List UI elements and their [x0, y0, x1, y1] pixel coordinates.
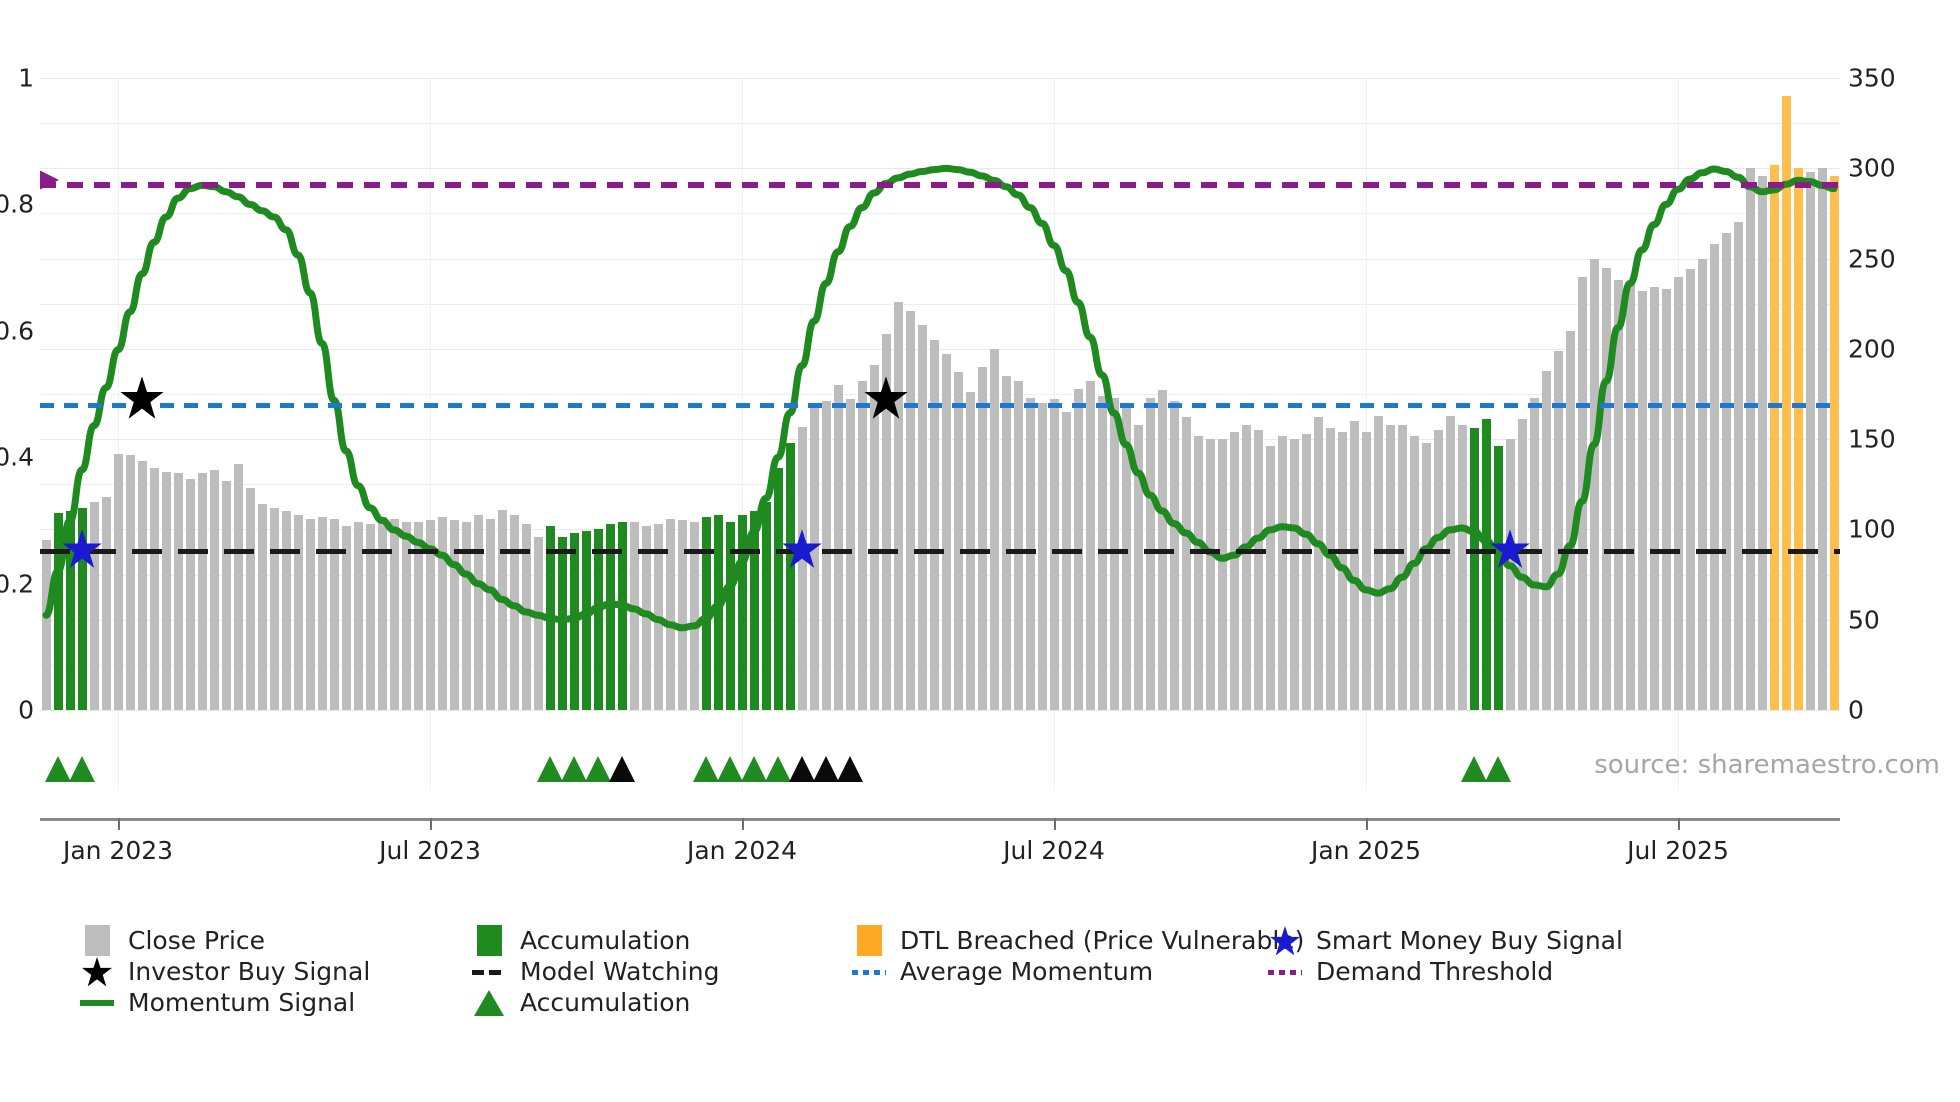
accumulation-triangle-strip [40, 742, 1840, 782]
y-left-tick-label: 0.8 [0, 190, 34, 219]
chart-legend: Close PriceAccumulationDTL Breached (Pri… [80, 925, 1940, 1018]
legend-square-icon [857, 925, 882, 956]
y-left-tick-label: 0.2 [0, 569, 34, 598]
reference-line-segment [1228, 182, 1244, 188]
accumulation-triangle [693, 756, 719, 782]
reference-line-segment [364, 182, 380, 188]
x-tick-label: Jan 2024 [687, 836, 797, 865]
reference-line-segment [1282, 549, 1312, 554]
reference-line-segment [1576, 403, 1590, 408]
x-tick-label: Jan 2025 [1311, 836, 1421, 865]
reference-line-segment [1742, 549, 1772, 554]
accumulation-triangle [537, 756, 563, 782]
legend-square-icon [477, 925, 502, 956]
accumulation-triangle [45, 756, 71, 782]
reference-line-segment [684, 549, 714, 554]
reference-line-segment [742, 182, 758, 188]
star-icon [1269, 925, 1301, 957]
reference-line-segment [1600, 403, 1614, 408]
momentum-signal-path [46, 168, 1834, 627]
reference-line-segment [1374, 549, 1404, 554]
reference-line-segment [1816, 403, 1830, 408]
reference-line-segment [270, 549, 300, 554]
reference-line-segment [688, 182, 704, 188]
reference-line-segment [40, 403, 54, 408]
accumulation-triangle [1461, 756, 1487, 782]
reference-line-segment [1408, 403, 1422, 408]
reference-line-segment [472, 403, 486, 408]
reference-line-segment [132, 549, 162, 554]
reference-line-segment [148, 182, 164, 188]
chart-root: 00.20.40.60.81 050100150200250300350 sou… [0, 0, 1960, 1102]
reference-line-segment [730, 549, 760, 554]
y-axis-left: 00.20.40.60.81 [0, 78, 34, 710]
reference-line-segment [976, 403, 990, 408]
reference-line-segment [1093, 182, 1109, 188]
star-icon-black [863, 375, 909, 421]
reference-line-segment [904, 182, 920, 188]
watching-triangle [837, 756, 863, 782]
reference-line-segment [1672, 403, 1686, 408]
reference-line-segment [1309, 182, 1325, 188]
x-tick-label: Jul 2025 [1627, 836, 1729, 865]
star-icon-blue [61, 528, 103, 570]
y-right-tick-label: 250 [1848, 244, 1896, 273]
reference-line-segment [1525, 182, 1541, 188]
reference-line-segment [526, 182, 542, 188]
reference-line-segment [1504, 403, 1518, 408]
plot-clip [40, 78, 1840, 710]
reference-line-segment [448, 403, 462, 408]
reference-line-segment [229, 182, 245, 188]
legend-label: Smart Money Buy Signal [1316, 926, 1623, 955]
legend-square-icon [85, 925, 110, 956]
reference-line-segment [1363, 182, 1379, 188]
reference-line-segment [1606, 182, 1622, 188]
legend-label: Demand Threshold [1316, 957, 1553, 986]
star-icon-blue [781, 528, 823, 570]
reference-line-segment [1328, 549, 1358, 554]
reference-line-segment [337, 182, 353, 188]
reference-line-segment [1768, 182, 1784, 188]
reference-line-segment [400, 403, 414, 408]
reference-line-segment [553, 182, 569, 188]
reference-line-segment [1096, 403, 1110, 408]
reference-line-segment [1336, 182, 1352, 188]
reference-line-segment [232, 403, 246, 408]
reference-line-segment [184, 403, 198, 408]
x-tick-mark [1366, 818, 1368, 830]
reference-line-segment [1714, 182, 1730, 188]
legend-item[interactable]: Demand Threshold [1268, 956, 1553, 987]
reference-line-segment [928, 403, 942, 408]
reference-line-segment [850, 182, 866, 188]
reference-line-segment [868, 549, 898, 554]
reference-line-segment [616, 403, 630, 408]
reference-line-segment [1236, 549, 1266, 554]
reference-line-segment [931, 182, 947, 188]
reference-line-segment [822, 549, 852, 554]
reference-line-segment [352, 403, 366, 408]
accumulation-triangle [765, 756, 791, 782]
reference-line-segment [1660, 182, 1676, 188]
y-axis-right: 050100150200250300350 [1848, 78, 1958, 710]
reference-line-segment [316, 549, 346, 554]
reference-line-segment [256, 182, 272, 188]
reference-line-segment [1696, 549, 1726, 554]
reference-line-segment [1834, 549, 1840, 554]
reference-line-segment [500, 549, 530, 554]
x-tick-mark [118, 818, 120, 830]
y-right-tick-label: 150 [1848, 425, 1896, 454]
legend-swatch-square [472, 925, 506, 956]
reference-line-segment [715, 182, 731, 188]
reference-line-segment [1480, 403, 1494, 408]
reference-line-segment [424, 403, 438, 408]
legend-swatch-dash [852, 956, 886, 987]
legend-swatch-dash [1268, 956, 1302, 987]
reference-line-segment [1282, 182, 1298, 188]
reference-line-segment [67, 182, 83, 188]
reference-line-segment [1312, 403, 1326, 408]
reference-line-segment [1216, 403, 1230, 408]
solid-line-icon [80, 1000, 114, 1006]
reference-line-segment [1579, 182, 1595, 188]
x-tick-mark [1678, 818, 1680, 830]
reference-line-segment [1360, 403, 1374, 408]
reference-line-segment [445, 182, 461, 188]
legend-item[interactable]: Model Watching [472, 956, 720, 987]
reference-line-segment [1788, 549, 1818, 554]
reference-line-segment [664, 403, 678, 408]
reference-line-segment [592, 549, 622, 554]
legend-item[interactable]: Momentum Signal [80, 987, 355, 1018]
reference-line-segment [1552, 182, 1568, 188]
reference-line-segment [546, 549, 576, 554]
x-tick-mark [1054, 818, 1056, 830]
reference-line-segment [736, 403, 750, 408]
reference-line-segment [88, 403, 102, 408]
reference-line-segment [310, 182, 326, 188]
reference-line-segment [175, 182, 191, 188]
reference-line-segment [634, 182, 650, 188]
reference-line-segment [985, 182, 1001, 188]
reference-line-segment [712, 403, 726, 408]
reference-line-segment [688, 403, 702, 408]
reference-line-segment [592, 403, 606, 408]
reference-line-segment [568, 403, 582, 408]
legend-label: DTL Breached (Price Vulnerable) [900, 926, 1304, 955]
reference-line-segment [1168, 403, 1182, 408]
reference-line-segment [1144, 403, 1158, 408]
reference-line-segment [808, 403, 822, 408]
legend-label: Close Price [128, 926, 265, 955]
reference-line-segment [877, 182, 893, 188]
y-left-tick-label: 0.4 [0, 443, 34, 472]
legend-swatch-line [80, 987, 114, 1018]
reference-line-segment [1000, 403, 1014, 408]
reference-line-segment [1558, 549, 1588, 554]
reference-line-segment [362, 549, 392, 554]
reference-line-segment [64, 403, 78, 408]
reference-line-segment [283, 182, 299, 188]
y-left-tick-label: 0 [18, 696, 34, 725]
reference-line-segment [121, 182, 137, 188]
legend-swatch-square [80, 925, 114, 956]
legend-item[interactable]: DTL Breached (Price Vulnerable) [852, 925, 1304, 956]
legend-label: Momentum Signal [128, 988, 355, 1017]
reference-line-segment [1288, 403, 1302, 408]
reference-line-segment [960, 549, 990, 554]
reference-line-segment [661, 182, 677, 188]
reference-line-segment [1687, 182, 1703, 188]
smart-money-buy-signal-star [61, 528, 103, 574]
y-left-tick-label: 0.6 [0, 316, 34, 345]
star-icon [81, 956, 113, 988]
source-note: source: sharemaestro.com [1594, 750, 1940, 780]
reference-line-segment [1417, 182, 1433, 188]
reference-line-segment [1552, 403, 1566, 408]
accumulation-triangle [561, 756, 587, 782]
reference-line-segment [1098, 549, 1128, 554]
legend-swatch-triangle [472, 987, 506, 1018]
accumulation-triangle [1485, 756, 1511, 782]
reference-line-segment [1741, 182, 1757, 188]
x-axis-line [40, 818, 1840, 821]
star-icon-blue [1489, 528, 1531, 570]
reference-line-segment [418, 182, 434, 188]
reference-line-segment [823, 182, 839, 188]
reference-line-segment [1201, 182, 1217, 188]
momentum-signal-line [40, 78, 1840, 710]
reference-line-segment [914, 549, 944, 554]
reference-line-segment [1648, 403, 1662, 408]
reference-line-segment [544, 403, 558, 408]
reference-line-segment [760, 403, 774, 408]
legend-swatch-square [852, 925, 886, 956]
reference-line-segment [472, 182, 488, 188]
legend-row: Momentum SignalAccumulation [80, 987, 1940, 1018]
reference-line-segment [1048, 403, 1062, 408]
reference-line-segment [784, 403, 798, 408]
reference-line-segment [499, 182, 515, 188]
reference-line-segment [1604, 549, 1634, 554]
reference-line-segment [638, 549, 668, 554]
reference-line-segment [256, 403, 270, 408]
reference-line-segment [1174, 182, 1190, 188]
reference-line-segment [1498, 182, 1514, 188]
plot-area [40, 78, 1840, 710]
reference-line-segment [580, 182, 596, 188]
x-tick-mark [430, 818, 432, 830]
reference-line-segment [1444, 182, 1460, 188]
reference-line-segment [1012, 182, 1028, 188]
reference-line-segment [1384, 403, 1398, 408]
reference-line-segment [1650, 549, 1680, 554]
gridline [40, 710, 1840, 711]
x-tick-label: Jul 2023 [379, 836, 481, 865]
y-left-tick-label: 1 [18, 64, 34, 93]
reference-line-segment [304, 403, 318, 408]
y-right-tick-label: 300 [1848, 154, 1896, 183]
reference-line-segment [1420, 549, 1450, 554]
smart-money-buy-signal-star [781, 528, 823, 574]
reference-line-segment [1120, 403, 1134, 408]
reference-line-segment [1192, 403, 1206, 408]
reference-line-segment [1255, 182, 1271, 188]
reference-line-segment [520, 403, 534, 408]
reference-line-segment [1147, 182, 1163, 188]
legend-label: Model Watching [520, 957, 720, 986]
y-right-tick-label: 350 [1848, 64, 1896, 93]
legend-row: Close PriceAccumulationDTL Breached (Pri… [80, 925, 1940, 956]
accumulation-triangle [585, 756, 611, 782]
reference-line-segment [1792, 403, 1806, 408]
reference-line-segment [1624, 403, 1638, 408]
reference-line-segment [1471, 182, 1487, 188]
investor-buy-signal-star [863, 375, 909, 425]
reference-line-segment [1072, 403, 1086, 408]
reference-line-segment [224, 549, 254, 554]
star-icon-black [119, 375, 165, 421]
reference-line-segment [408, 549, 438, 554]
reference-line-segment [208, 403, 222, 408]
reference-line-segment [94, 182, 110, 188]
legend-label: Investor Buy Signal [128, 957, 370, 986]
reference-line-segment [391, 182, 407, 188]
legend-label: Accumulation [520, 926, 690, 955]
x-tick-label: Jan 2023 [63, 836, 173, 865]
legend-item[interactable]: Smart Money Buy Signal [1268, 925, 1623, 956]
reference-line-segment [1795, 182, 1811, 188]
watching-triangle [813, 756, 839, 782]
diamond-icon [40, 161, 61, 199]
reference-line-segment [1190, 549, 1220, 554]
reference-line-segment [607, 182, 623, 188]
watching-triangle [789, 756, 815, 782]
reference-line-segment [1822, 182, 1838, 188]
legend-label: Average Momentum [900, 957, 1153, 986]
reference-line-segment [1039, 182, 1055, 188]
reference-line-segment [1240, 403, 1254, 408]
legend-swatch-dash [472, 956, 506, 987]
accumulation-triangle [741, 756, 767, 782]
legend-item[interactable]: Investor Buy Signal [80, 956, 370, 987]
reference-line-segment [1633, 182, 1649, 188]
reference-line-segment [1120, 182, 1136, 188]
legend-swatch-star [1268, 925, 1302, 956]
reference-line-segment [640, 403, 654, 408]
y-right-tick-label: 200 [1848, 334, 1896, 363]
reference-line-segment [1052, 549, 1082, 554]
reference-line-segment [202, 182, 218, 188]
reference-line-segment [1456, 403, 1470, 408]
reference-line-segment [280, 403, 294, 408]
triangle-icon [474, 990, 504, 1016]
reference-line-segment [1336, 403, 1350, 408]
investor-buy-signal-star [119, 375, 165, 425]
legend-label: Accumulation [520, 988, 690, 1017]
reference-line-segment [328, 403, 342, 408]
reference-line-segment [1144, 549, 1174, 554]
reference-line-segment [769, 182, 785, 188]
reference-line-segment [1528, 403, 1542, 408]
y-right-tick-label: 50 [1848, 605, 1880, 634]
reference-line-segment [952, 403, 966, 408]
reference-line-segment [1720, 403, 1734, 408]
legend-item[interactable]: Close Price [80, 925, 265, 956]
smart-money-buy-signal-star [1489, 528, 1531, 574]
reference-line-segment [178, 549, 208, 554]
reference-line-segment [832, 403, 846, 408]
reference-line-segment [1390, 182, 1406, 188]
reference-line-segment [1432, 403, 1446, 408]
reference-line-segment [1744, 403, 1758, 408]
reference-line-segment [1696, 403, 1710, 408]
reference-line-segment [376, 403, 390, 408]
y-right-tick-label: 0 [1848, 696, 1864, 725]
x-tick-mark [742, 818, 744, 830]
demand-threshold-diamond-marker [40, 161, 61, 203]
reference-line-segment [496, 403, 510, 408]
reference-line-segment [1768, 403, 1782, 408]
watching-triangle [609, 756, 635, 782]
reference-line-segment [1066, 182, 1082, 188]
legend-row: Investor Buy SignalModel WatchingAverage… [80, 956, 1940, 987]
reference-line-segment [958, 182, 974, 188]
reference-line-segment [1264, 403, 1278, 408]
x-tick-label: Jul 2024 [1003, 836, 1105, 865]
reference-line-segment [796, 182, 812, 188]
legend-item[interactable]: Average Momentum [852, 956, 1153, 987]
accumulation-triangle [69, 756, 95, 782]
y-right-tick-label: 100 [1848, 515, 1896, 544]
legend-item[interactable]: Accumulation [472, 925, 690, 956]
legend-swatch-star [80, 956, 114, 987]
reference-line-segment [1006, 549, 1036, 554]
reference-line-segment [1024, 403, 1038, 408]
accumulation-triangle [717, 756, 743, 782]
reference-line-segment [454, 549, 484, 554]
legend-item[interactable]: Accumulation [472, 987, 690, 1018]
